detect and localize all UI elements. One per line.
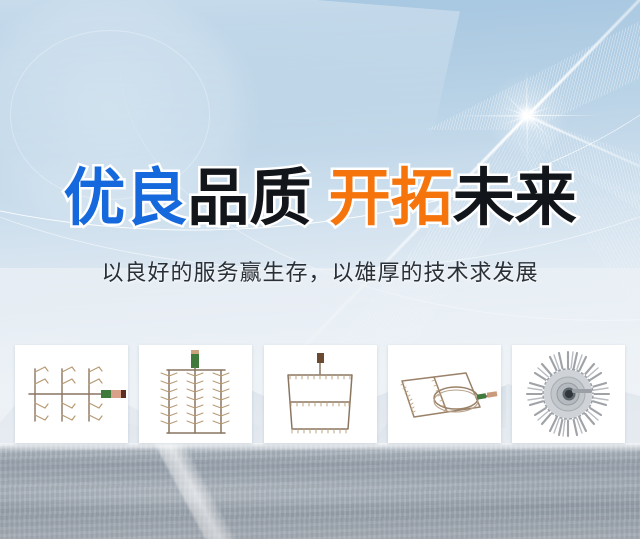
ring-frame-rack-icon (388, 345, 501, 443)
product-card-ring-frame-rack[interactable] (388, 345, 501, 443)
double-row-comb-rack-icon (139, 345, 252, 443)
headline-segment-dark-2: 未来 (453, 164, 577, 233)
product-card-radial-sunburst-rack[interactable] (512, 345, 625, 443)
radial-sunburst-rack-icon (512, 345, 625, 443)
flare-spike (526, 70, 527, 116)
headline-segment-dark-1: 品质 (187, 164, 311, 233)
product-thumbnail-strip (15, 345, 625, 443)
flare-spike (527, 115, 599, 116)
product-card-ladder-frame-rack[interactable] (264, 345, 377, 443)
headline-segment-blue: 优良 (63, 164, 187, 233)
ladder-frame-rack-icon (264, 345, 377, 443)
page-title: 优良品质 开拓未来 (0, 166, 640, 232)
flare-spike (455, 115, 527, 116)
headline-segment-gap (311, 164, 328, 233)
ground-surface (0, 443, 640, 539)
page-subtitle: 以良好的服务赢生存，以雄厚的技术求发展 (0, 258, 640, 288)
flare-spike (526, 116, 527, 162)
product-card-double-row-comb-rack[interactable] (139, 345, 252, 443)
product-card-multi-branch-plating-rack[interactable] (15, 345, 128, 443)
headline-segment-orange: 开拓 (329, 164, 453, 233)
promo-banner: 优良品质 开拓未来 以良好的服务赢生存，以雄厚的技术求发展 (0, 0, 640, 539)
multi-branch-plating-rack-icon (15, 345, 128, 443)
ground-vignette (0, 443, 640, 539)
